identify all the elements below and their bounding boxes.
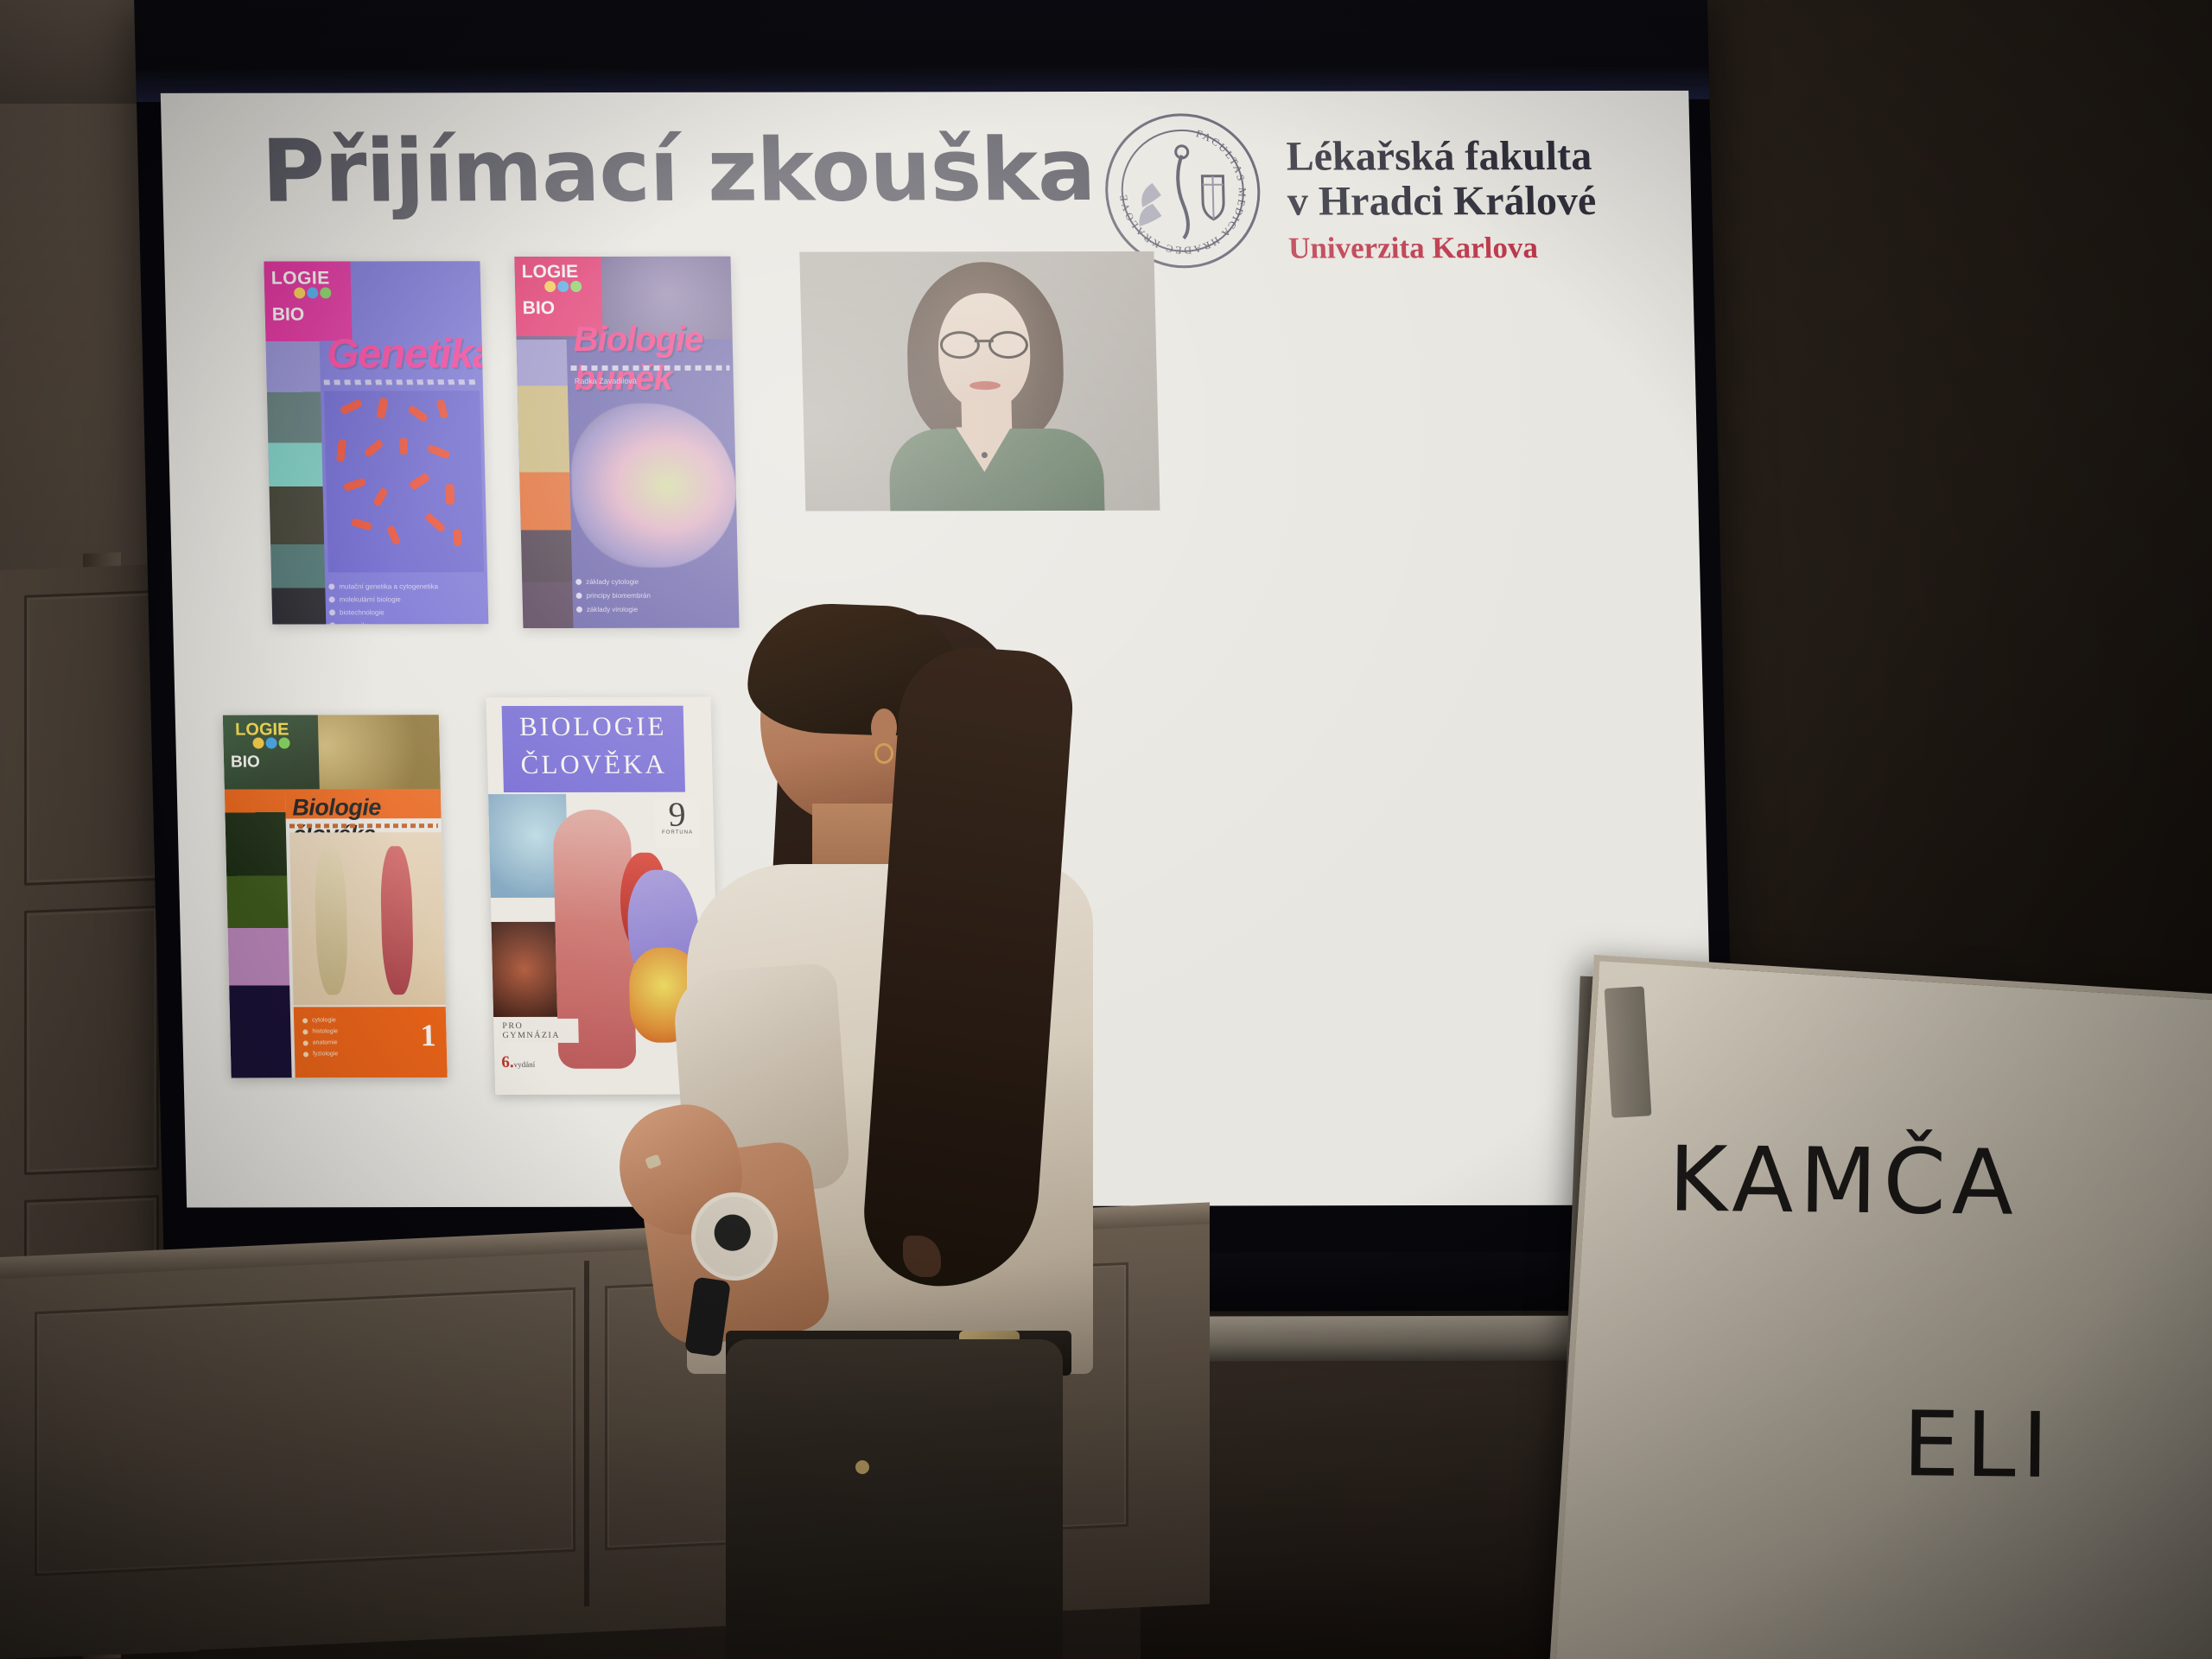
list-item: základy cytologie (575, 578, 650, 586)
wall-panel-seam (584, 1261, 589, 1606)
whiteboard-line-1: KAMČA (1669, 1127, 2020, 1236)
photo-scene: Přijímací zkouška FACULTAS MEDICA HRADEC… (0, 0, 2212, 1659)
book-title: Genetika (326, 330, 488, 378)
book-rule (289, 823, 438, 828)
book-side-strip (517, 340, 574, 628)
book-bullet-list: mutační genetika a cytogenetika molekulá… (328, 582, 485, 624)
screen-hood (134, 0, 1709, 102)
wall-panel (35, 1287, 575, 1576)
skeleton-figure (314, 846, 348, 995)
chromosome-art (324, 391, 484, 572)
list-item: molekulární biologie (329, 595, 485, 603)
list-item: histologie (302, 1028, 338, 1034)
audience-line-1: PRO (502, 1021, 575, 1031)
faculty-text: Lékařská fakulta v Hradci Králové Univer… (1285, 108, 1598, 265)
list-item: anatomie (303, 1039, 339, 1046)
university-seal-icon: FACULTAS MEDICA HRADEC KRALOVE (1098, 109, 1267, 273)
book-cover-genetika: LOGIE BIO Genetika (264, 261, 488, 624)
book-side-strip (225, 789, 292, 1077)
faculty-line-2: v Hradci Králové (1287, 179, 1597, 224)
list-item: genomika (329, 621, 485, 624)
glasses-icon (940, 331, 1029, 353)
presenter-trousers (726, 1339, 1063, 1659)
series-dots-icon (544, 281, 582, 292)
anatomy-illustration (289, 832, 446, 1005)
door-panel (24, 906, 159, 1175)
whiteboard: KAMČA ELI (1548, 955, 2212, 1659)
list-item: biotechnologie (329, 608, 485, 616)
university-name: Univerzita Karlova (1288, 231, 1598, 266)
series-label-bottom: BIO (522, 298, 555, 319)
list-item: mutační genetika a cytogenetika (328, 582, 484, 590)
marker-clip-icon (1605, 986, 1652, 1117)
book-rule (570, 365, 729, 371)
faculty-lockup: FACULTAS MEDICA HRADEC KRALOVE Lékařská … (1098, 108, 1598, 273)
book-cover-biologie-bunek: LOGIE BIO Biologie buněk Radka Zavadilov… (514, 257, 739, 628)
trouser-rivet (855, 1460, 869, 1474)
necklace (982, 452, 988, 458)
lips (969, 381, 1001, 390)
presenter-ear (871, 709, 897, 747)
series-label-top: LOGIE (271, 269, 330, 289)
whiteboard-line-2: ELI (1903, 1391, 2056, 1498)
volume-number: 1 (420, 1017, 436, 1053)
series-dots-icon (252, 737, 289, 748)
audience-label: PRO GYMNÁZIA (499, 1019, 579, 1043)
book-footer: 1 cytologie histologie anatomie fyziolog… (294, 1007, 448, 1077)
cell-illustration (569, 404, 738, 568)
faculty-line-1: Lékařská fakulta (1286, 134, 1596, 179)
muscle-figure (379, 846, 414, 995)
series-label-bottom: BIO (231, 753, 260, 772)
book-cover-biologie-cloveka: LOGIE BIO Biologie člověka 1 cytologie h… (223, 715, 448, 1077)
hoop-earring-icon (874, 743, 893, 764)
book-rule (324, 379, 476, 385)
edition-label: 6.vydání (501, 1053, 535, 1072)
slide-title: Přijímací zkouška (261, 119, 1096, 222)
series-label-top: LOGIE (522, 262, 579, 283)
edition-number: 6. (501, 1053, 514, 1071)
edition-word: vydání (514, 1060, 536, 1069)
micrograph-illustration (491, 922, 557, 1017)
list-item: cytologie (302, 1017, 338, 1023)
series-dots-icon (294, 288, 331, 299)
audience-line-2: GYMNÁZIA (502, 1031, 575, 1040)
book-author: Radka Zavadilová (575, 376, 637, 388)
list-item: fyziologie (303, 1051, 339, 1057)
door-panel (24, 590, 159, 886)
portrait-photo (799, 251, 1160, 512)
series-label-bottom: BIO (272, 305, 305, 326)
presenter (596, 596, 1270, 1659)
book-bullet-list: cytologie histologie anatomie fyziologie (302, 1017, 339, 1062)
